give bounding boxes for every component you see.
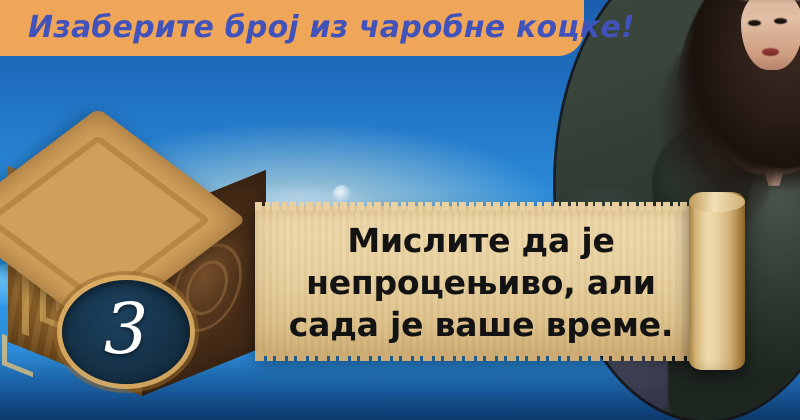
scroll-roll-cap <box>689 192 745 212</box>
page-title: Изаберите број из чаробне коцке! <box>28 10 635 46</box>
cube-number: 3 <box>104 294 149 364</box>
scroll-torn-top-edge <box>255 202 707 211</box>
scroll-message: Мислите да је непроцењиво, али сада је в… <box>273 220 689 346</box>
eye-left <box>748 20 761 26</box>
scroll-rolled-end <box>689 192 745 370</box>
scroll-torn-bottom-edge <box>255 351 707 361</box>
lips-shape <box>762 48 779 56</box>
number-badge[interactable]: 3 <box>62 280 190 384</box>
header-banner: Изаберите број из чаробне коцке! <box>0 0 584 56</box>
eye-right <box>774 18 787 24</box>
promo-card: Изаберите број из чаробне коцке! 3 Мисли… <box>0 0 800 420</box>
magic-cube[interactable]: 3 <box>0 128 268 396</box>
message-scroll: Мислите да је непроцењиво, али сада је в… <box>255 206 723 356</box>
